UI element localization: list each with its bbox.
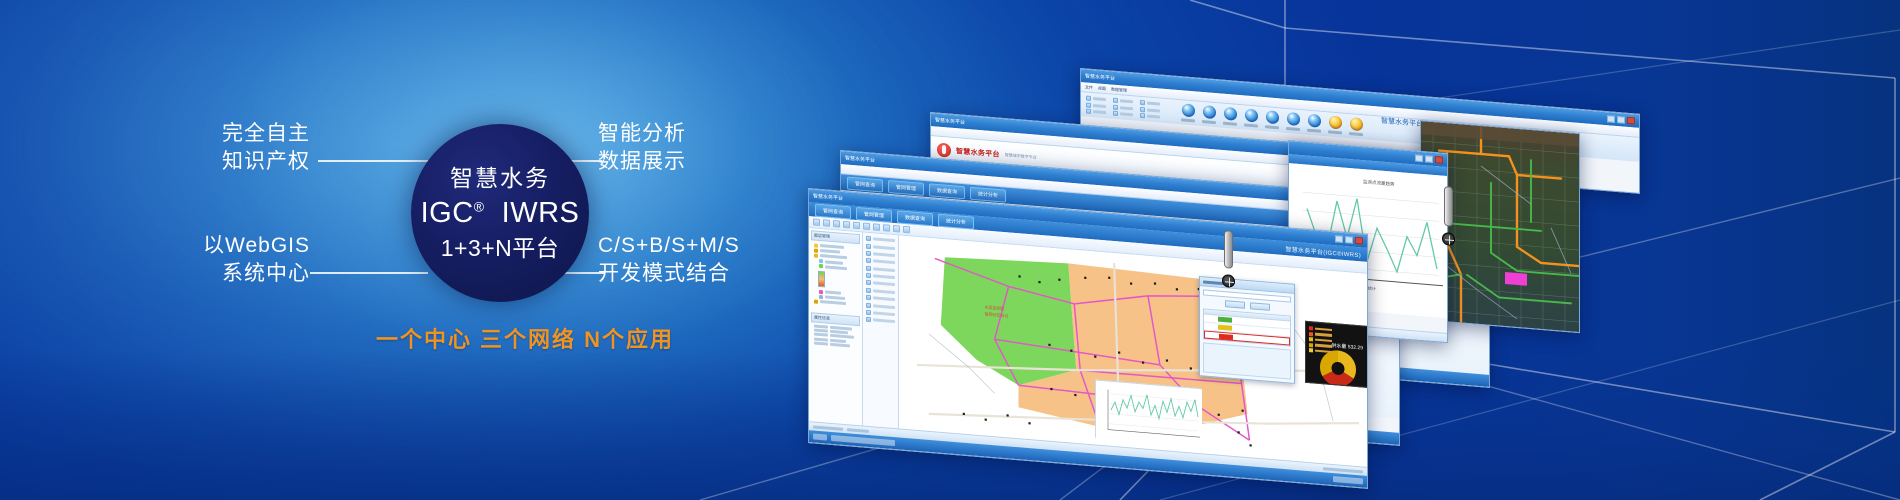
feature-label-webgis-core: 以WebGIS 系统中心 xyxy=(150,232,310,288)
ribbon-label xyxy=(1147,108,1160,112)
query-icon[interactable] xyxy=(903,226,910,234)
globe-icon[interactable] xyxy=(1182,103,1195,117)
legend-table xyxy=(1203,308,1291,346)
center-brand-badge: 智慧水务 IGC® IWRS 1+3+N平台 xyxy=(411,124,589,302)
feature-label-smart-analysis: 智能分析 数据展示 xyxy=(598,120,818,176)
ribbon-large-button[interactable] xyxy=(1307,114,1321,133)
tool-item[interactable] xyxy=(865,316,896,326)
menu-item-view[interactable]: 视图 xyxy=(1098,85,1106,92)
globe-icon[interactable] xyxy=(1329,115,1342,129)
start-button[interactable] xyxy=(813,433,827,440)
ribbon-icon[interactable] xyxy=(1113,98,1118,103)
ribbon-large-button[interactable] xyxy=(1181,103,1195,122)
badge-code-igc: IGC xyxy=(421,197,474,229)
feature-label-dev-model: C/S+B/S+M/S 开发模式结合 xyxy=(598,232,828,288)
button-label xyxy=(1307,128,1321,132)
ribbon-large-button[interactable] xyxy=(1244,108,1258,127)
ribbon-icon[interactable] xyxy=(1140,100,1145,105)
button-label xyxy=(1349,132,1363,136)
button-label xyxy=(1244,123,1258,127)
system-tray[interactable] xyxy=(1333,476,1363,484)
tool-label xyxy=(873,267,895,272)
window-title: 智慧水务平台 xyxy=(1085,72,1115,81)
badge-product-code: IGC® IWRS xyxy=(421,199,580,228)
button-label xyxy=(1223,121,1237,125)
menu-item-data[interactable]: 数据管理 xyxy=(1111,86,1127,93)
ribbon-label xyxy=(1120,112,1133,116)
globe-icon[interactable] xyxy=(1287,112,1300,126)
taskbar-item[interactable] xyxy=(831,435,895,446)
ribbon-group-basic[interactable] xyxy=(1086,95,1106,115)
window-controls[interactable] xyxy=(1335,235,1363,244)
ribbon-icon[interactable] xyxy=(1113,111,1118,116)
ribbon-label xyxy=(1147,101,1160,105)
globe-icon[interactable] xyxy=(1308,114,1321,128)
window-controls[interactable] xyxy=(1607,115,1635,124)
tool-label xyxy=(873,238,895,243)
identify-icon[interactable] xyxy=(893,225,900,233)
layer-label xyxy=(820,300,846,305)
tool-icon[interactable] xyxy=(866,280,871,285)
menu-item-file[interactable]: 文件 xyxy=(1085,84,1093,91)
hourly-flow-svg xyxy=(1096,381,1202,448)
close-icon[interactable] xyxy=(1627,117,1635,125)
brand-subtitle: 智慧城市数字平台 xyxy=(1005,152,1037,161)
ribbon-large-button[interactable] xyxy=(1265,110,1279,129)
ribbon-large-button[interactable] xyxy=(1223,107,1237,126)
tool-icon[interactable] xyxy=(866,265,871,270)
feature-label-full-independence: 完全自主 知识产权 xyxy=(160,120,310,176)
ribbon-group-edit[interactable] xyxy=(1113,98,1133,118)
layer-swatch xyxy=(814,299,818,303)
highlight-polygon xyxy=(1505,272,1527,286)
globe-icon[interactable] xyxy=(1350,117,1363,131)
feature-line-1: C/S+B/S+M/S xyxy=(598,232,828,260)
dialog-body xyxy=(1200,286,1294,383)
nav-tab-pipe-manage[interactable]: 管网管理 xyxy=(888,179,924,195)
connector-line-top-left xyxy=(318,160,428,162)
gis-zoom-slider[interactable] xyxy=(1224,230,1233,269)
tool-label xyxy=(873,297,895,302)
window-title: 智慧水务平台 xyxy=(935,116,965,125)
registered-mark-icon: ® xyxy=(474,198,485,214)
nav-tab-pipe-query[interactable]: 管网查询 xyxy=(847,176,883,192)
ribbon-large-button[interactable] xyxy=(1286,112,1300,131)
zoom-out-icon[interactable] xyxy=(853,222,860,230)
ribbon-icon[interactable] xyxy=(1140,106,1145,111)
banner-tagline: 一个中心 三个网络 N个应用 xyxy=(310,322,740,354)
panel-hourly-flow-chart[interactable] xyxy=(1095,380,1201,447)
ribbon-label xyxy=(1147,114,1160,118)
ribbon-icon[interactable] xyxy=(1113,104,1118,109)
legend-swatch-normal xyxy=(1218,317,1232,323)
ribbon-label xyxy=(1093,104,1106,108)
ribbon-icon[interactable] xyxy=(1086,95,1091,100)
pan-icon[interactable] xyxy=(863,223,870,231)
close-icon[interactable] xyxy=(1355,237,1363,245)
ribbon-large-button[interactable] xyxy=(1328,115,1342,134)
connector-line-bottom-left xyxy=(310,272,428,274)
tool-label xyxy=(873,274,895,279)
tool-icon[interactable] xyxy=(866,295,871,300)
tool-label xyxy=(873,311,895,316)
minimize-icon[interactable] xyxy=(1607,115,1615,123)
window-gis-main[interactable]: 智慧水务平台 管网查询 管网管理 数据查询 统计分析 智慧水务平台(IGC®IW… xyxy=(808,188,1368,489)
feature-line-1: 完全自主 xyxy=(160,120,310,148)
globe-icon[interactable] xyxy=(1224,107,1237,121)
tool-label xyxy=(873,282,895,287)
window-title: 智慧水务平台 xyxy=(813,192,843,201)
print-icon[interactable] xyxy=(833,220,840,228)
save-icon[interactable] xyxy=(823,219,830,227)
measure-icon[interactable] xyxy=(883,224,890,232)
feature-line-2: 知识产权 xyxy=(160,148,310,176)
button-label xyxy=(1181,118,1195,122)
confirm-button[interactable] xyxy=(1225,300,1245,309)
ribbon-label xyxy=(1120,106,1133,110)
ribbon-label xyxy=(1093,97,1106,101)
feature-line-2: 数据展示 xyxy=(598,148,818,176)
nav-tab-statistics[interactable]: 统计分析 xyxy=(970,186,1006,202)
ribbon-label xyxy=(1120,99,1133,103)
badge-code-iwrs: IWRS xyxy=(502,197,580,229)
layer-swatch xyxy=(819,295,823,299)
tool-icon[interactable] xyxy=(866,258,871,263)
tool-label xyxy=(873,319,895,324)
ribbon-large-button[interactable] xyxy=(1349,117,1363,136)
tool-label xyxy=(873,289,895,294)
gis-pan-control[interactable] xyxy=(1222,274,1235,288)
status-scale xyxy=(847,428,869,433)
tool-label xyxy=(873,260,895,265)
globe-icon[interactable] xyxy=(1266,110,1279,124)
dialog-attribute-classification[interactable] xyxy=(1199,276,1295,384)
tool-label xyxy=(873,245,895,250)
ribbon-group-tools[interactable] xyxy=(1140,100,1160,120)
company-logo-icon xyxy=(937,142,951,157)
ribbon-icon[interactable] xyxy=(1140,113,1145,118)
minimize-icon[interactable] xyxy=(1415,154,1423,162)
tool-icon[interactable] xyxy=(866,236,871,241)
ribbon-label xyxy=(1093,110,1106,114)
tool-icon[interactable] xyxy=(866,288,871,293)
globe-icon[interactable] xyxy=(1203,105,1216,119)
button-label xyxy=(1286,126,1300,130)
badge-platform-formula: 1+3+N平台 xyxy=(441,237,560,260)
maximize-icon[interactable] xyxy=(1345,236,1353,244)
feature-line-2: 系统中心 xyxy=(150,260,310,288)
attribute-value xyxy=(830,343,850,348)
dialog-preview-area xyxy=(1203,342,1291,379)
close-icon[interactable] xyxy=(1435,156,1443,164)
donut-legend xyxy=(1309,326,1332,354)
window-controls[interactable] xyxy=(1415,154,1443,163)
zoom-in-icon[interactable] xyxy=(843,221,850,229)
panel-water-supply-donut[interactable]: 供水量 532.29 xyxy=(1305,321,1367,388)
feature-line-1: 以WebGIS xyxy=(150,232,310,260)
tool-icon[interactable] xyxy=(866,310,871,315)
marketing-banner: 完全自主 知识产权 以WebGIS 系统中心 智能分析 数据展示 C/S+B/S… xyxy=(0,0,1900,500)
tool-icon[interactable] xyxy=(866,251,871,256)
brand-name: 智慧水务平台 xyxy=(956,146,1000,160)
ribbon-icon[interactable] xyxy=(1086,108,1091,113)
open-icon[interactable] xyxy=(813,218,820,226)
screenshot-stack: 智慧水务平台 文件 视图 数据管理 xyxy=(780,0,1900,500)
map-zoom-slider[interactable] xyxy=(1444,186,1453,227)
badge-product-name: 智慧水务 xyxy=(450,167,550,190)
nav-tab-data-query[interactable]: 数据查询 xyxy=(929,183,965,199)
maximize-icon[interactable] xyxy=(1617,116,1625,124)
layer-swatch xyxy=(819,289,823,293)
globe-icon[interactable] xyxy=(1245,108,1258,122)
button-label xyxy=(1328,130,1342,134)
menu-item[interactable] xyxy=(935,128,936,133)
cancel-button[interactable] xyxy=(1250,302,1270,311)
map-tool-panel[interactable] xyxy=(863,233,899,431)
ribbon-large-button[interactable] xyxy=(1202,105,1216,124)
window-title: 智慧水务平台 xyxy=(845,154,875,163)
menu-item[interactable] xyxy=(845,166,846,171)
button-label xyxy=(1202,120,1216,124)
tool-label xyxy=(873,252,895,257)
tool-icon[interactable] xyxy=(866,243,871,248)
layer-label xyxy=(825,265,847,270)
map-pan-control[interactable] xyxy=(1442,232,1455,246)
tool-icon[interactable] xyxy=(866,273,871,278)
minimize-icon[interactable] xyxy=(1335,235,1343,243)
maximize-icon[interactable] xyxy=(1425,155,1433,163)
banner-content: 完全自主 知识产权 以WebGIS 系统中心 智能分析 数据展示 C/S+B/S… xyxy=(0,0,820,500)
status-coordinates xyxy=(813,425,843,430)
tool-icon[interactable] xyxy=(866,302,871,307)
tool-label xyxy=(873,304,895,309)
ribbon-icon[interactable] xyxy=(1086,102,1091,107)
attribute-key xyxy=(814,341,828,345)
select-icon[interactable] xyxy=(873,223,880,231)
tool-icon[interactable] xyxy=(866,317,871,322)
feature-line-1: 智能分析 xyxy=(598,120,818,148)
feature-line-2: 开发模式结合 xyxy=(598,260,828,288)
legend-swatch-warning xyxy=(1218,325,1232,331)
legend-swatch-alarm xyxy=(1219,333,1233,339)
button-label xyxy=(1265,125,1279,129)
